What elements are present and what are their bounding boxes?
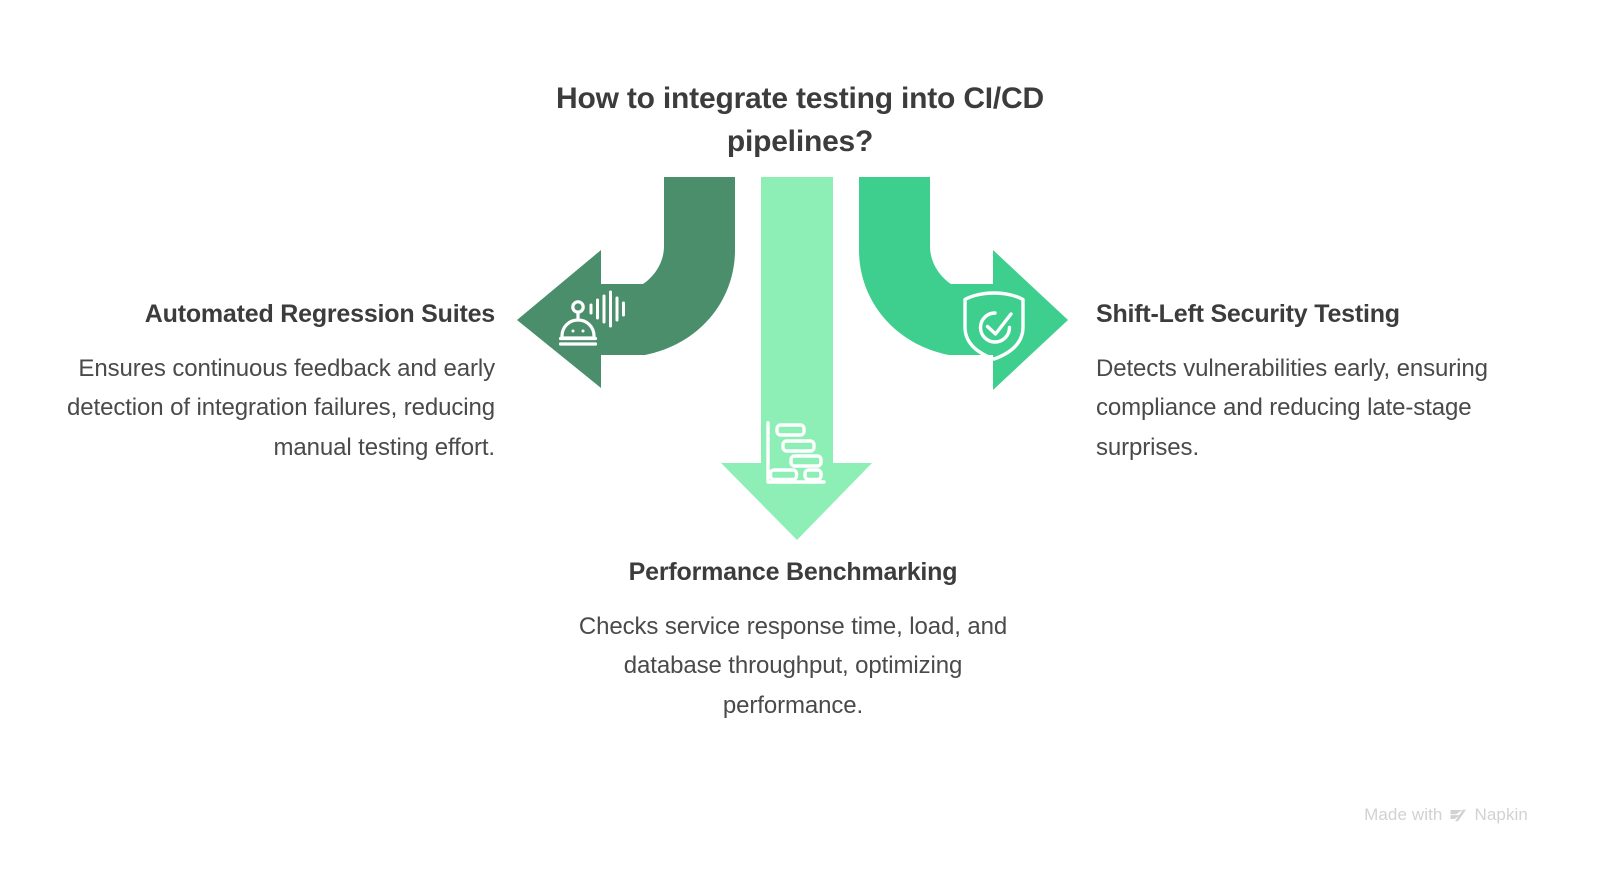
branch-left-heading: Automated Regression Suites <box>20 298 495 331</box>
arrow-center-shape <box>721 177 872 540</box>
diagram-canvas: How to integrate testing into CI/CD pipe… <box>0 0 1600 871</box>
arrow-right[interactable] <box>859 177 1068 390</box>
arrow-left-shape <box>517 177 735 388</box>
watermark: Made with Napkin <box>1364 805 1528 825</box>
arrow-left[interactable] <box>517 177 735 388</box>
branch-right-body: Detects vulnerabilities early, ensuring … <box>1096 349 1566 468</box>
branch-bottom: Performance Benchmarking Checks service … <box>558 556 1028 726</box>
branch-right: Shift-Left Security Testing Detects vuln… <box>1096 298 1566 468</box>
arrow-center[interactable] <box>721 177 872 540</box>
branch-bottom-heading: Performance Benchmarking <box>558 556 1028 589</box>
branch-left-body: Ensures continuous feedback and early de… <box>20 349 495 468</box>
branch-left: Automated Regression Suites Ensures cont… <box>20 298 495 468</box>
watermark-brand: Napkin <box>1474 805 1528 825</box>
napkin-logo-icon <box>1449 808 1467 823</box>
arrow-right-shape <box>859 177 1068 390</box>
watermark-prefix: Made with <box>1364 805 1442 825</box>
branch-right-heading: Shift-Left Security Testing <box>1096 298 1566 331</box>
branch-bottom-body: Checks service response time, load, and … <box>558 607 1028 726</box>
